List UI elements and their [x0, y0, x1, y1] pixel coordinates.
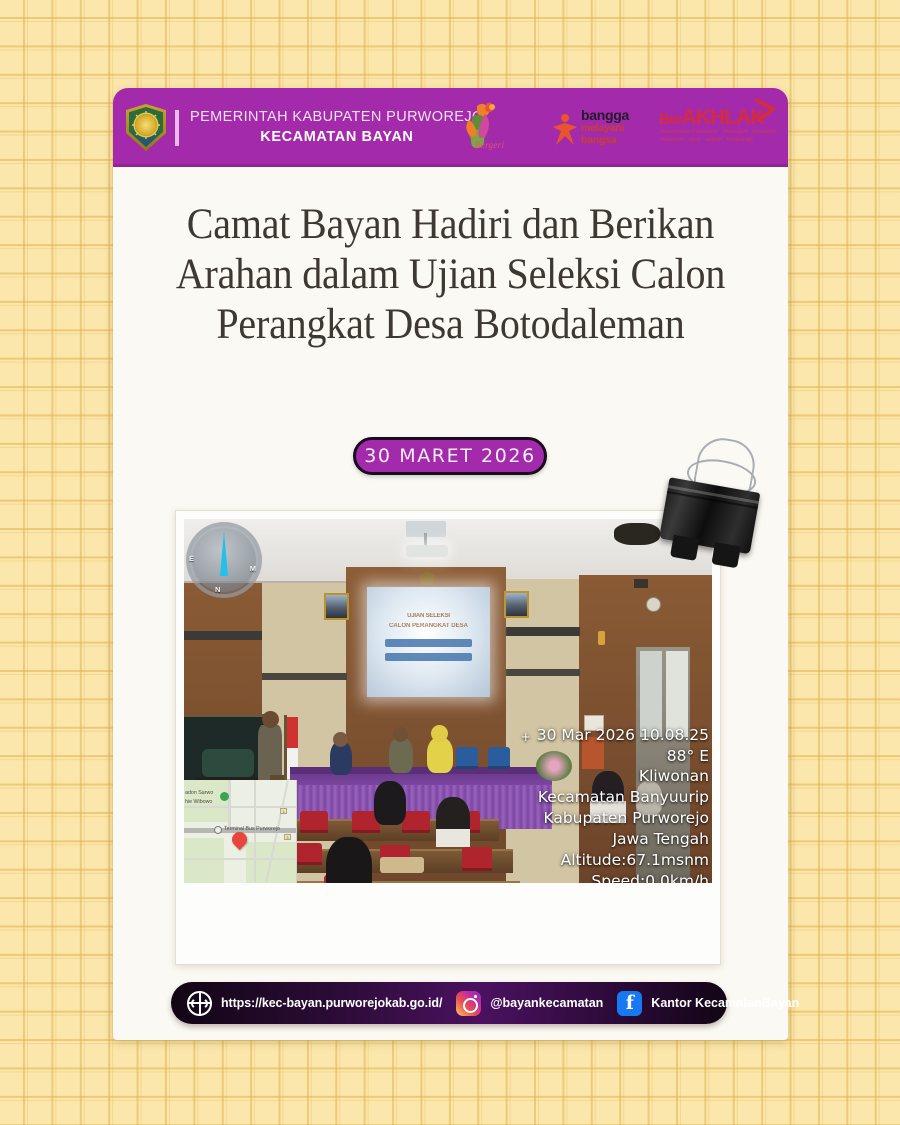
- event-photo: UJIAN SELEKSI CALON PERANGKAT DESA: [184, 519, 712, 883]
- title-line-1: Camat Bayan Hadiri dan Berikan: [170, 200, 731, 250]
- gps-line-altitude: Altitude:67.1msnm: [537, 850, 709, 871]
- date-badge: 30 MARET 2026: [353, 437, 547, 475]
- bergeri-wordmark: Bergeri: [475, 140, 504, 150]
- government-title-block: PEMERINTAH KABUPATEN PURWOREJO KECAMATAN…: [190, 108, 484, 147]
- crosshair-icon: +: [521, 729, 531, 745]
- bangga-melayani-bangsa-logo-icon: bangga melayanibangsa: [550, 101, 660, 155]
- hat-on-desk: [380, 857, 424, 873]
- website-url[interactable]: https://kec-bayan.purworejokab.go.id/: [221, 996, 442, 1010]
- government-name: PEMERINTAH KABUPATEN PURWOREJO: [190, 108, 484, 128]
- framed-portrait-left: [324, 593, 349, 620]
- gps-line-province: Jawa Tengah: [537, 829, 709, 850]
- title-line-2: Arahan dalam Ujian Seleksi Calon: [170, 250, 731, 300]
- official-seated: [427, 737, 453, 773]
- purworejo-coat-of-arms-icon: [126, 104, 166, 151]
- minimap-label-3: Terminal Bus Purworejo: [224, 826, 280, 833]
- projection-screen: UJIAN SELEKSI CALON PERANGKAT DESA: [367, 587, 490, 697]
- card-header: PEMERINTAH KABUPATEN PURWOREJO KECAMATAN…: [113, 88, 788, 167]
- berakhlak-swoosh-icon: [755, 98, 777, 124]
- candidate-seated: [326, 837, 372, 883]
- gps-overlay-stamp: + 30 Mar 2026 10.08.25 88° E Kliwonan Ke…: [537, 725, 709, 883]
- compass-label-bottom: N: [215, 585, 220, 594]
- bangga-star-figure-icon: [550, 113, 580, 147]
- globe-icon: [187, 991, 212, 1016]
- berakhlak-logo-icon: BerAKHLAK berorientasi Pelayanan akuntab…: [659, 98, 779, 156]
- candidate-seated: [374, 781, 406, 825]
- screen-text-line-1: UJIAN SELEKSI: [375, 613, 482, 619]
- page-title: Camat Bayan Hadiri dan Berikan Arahan da…: [170, 200, 731, 350]
- instagram-handle[interactable]: @bayankecamatan: [490, 996, 603, 1010]
- contact-footer-bar: https://kec-bayan.purworejokab.go.id/ @b…: [171, 982, 727, 1024]
- compass-label-left: E: [189, 554, 194, 563]
- instagram-icon[interactable]: [456, 991, 481, 1016]
- compass-label-right: M: [250, 564, 256, 573]
- district-name: KECAMATAN BAYAN: [190, 128, 484, 148]
- header-divider: [175, 110, 179, 146]
- gps-line-village: Kliwonan: [537, 766, 709, 787]
- minimap-route-shield-icon: 1: [280, 808, 287, 814]
- photo-frame: UJIAN SELEKSI CALON PERANGKAT DESA: [175, 510, 721, 965]
- minimap-label-1: adon Sarwo: [185, 790, 213, 797]
- berakhlak-values: berorientasi Pelayanan akuntabel kompete…: [661, 128, 779, 144]
- date-badge-label: 30 MARET 2026: [364, 445, 536, 467]
- facebook-page-name[interactable]: Kantor KecamatanBayan: [651, 996, 799, 1010]
- wall-lamp-icon: [598, 631, 605, 645]
- announcement-card: PEMERINTAH KABUPATEN PURWOREJO KECAMATAN…: [113, 88, 788, 1040]
- framed-portrait-right: [504, 591, 529, 618]
- bergeri-dancer-logo-icon: Bergeri: [451, 100, 531, 156]
- title-line-3: Perangkat Desa Botodaleman: [170, 300, 731, 350]
- bangga-wordmark: bangga: [581, 107, 629, 123]
- ceiling-speaker-icon: [614, 523, 660, 545]
- minimap-poi-icon: [214, 826, 222, 834]
- gps-line-longitude: 88° E: [537, 746, 709, 767]
- minimap-icon: 3 1 adon Sarwo hie Wibowo Terminal Bus P…: [184, 780, 297, 883]
- minimap-label-2: hie Wibowo: [185, 799, 212, 806]
- gps-line-regency: Kabupaten Purworejo: [537, 808, 709, 829]
- projector-icon: [406, 545, 448, 557]
- minimap-route-shield-icon: 3: [284, 834, 291, 840]
- compass-icon: E M N: [186, 522, 262, 598]
- gps-line-speed: Speed:0.0km/h: [537, 871, 709, 883]
- berakhlak-wordmark: BerAKHLAK: [659, 106, 765, 130]
- gps-line-datetime: 30 Mar 2026 10.08.25: [537, 725, 709, 746]
- wall-clock-icon: [646, 597, 661, 612]
- official-seated: [389, 737, 413, 773]
- gps-line-subdistrict: Kecamatan Banyuurip: [537, 787, 709, 808]
- bangga-tagline: melayanibangsa: [581, 122, 624, 146]
- facebook-icon[interactable]: f: [617, 991, 642, 1016]
- minimap-poi-icon: [220, 792, 229, 801]
- screen-text-line-2: CALON PERANGKAT DESA: [375, 623, 482, 629]
